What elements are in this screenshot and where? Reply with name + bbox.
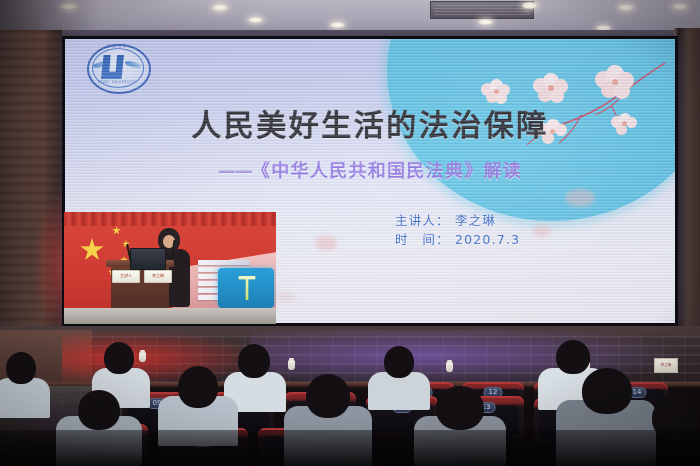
flag-star-1 (112, 226, 121, 235)
video-content: 主讲人 李之琳 (64, 212, 276, 324)
attendee-head (178, 366, 218, 408)
name-tent-card: 李之琳 (654, 358, 678, 373)
attendee-head (306, 374, 350, 418)
tea-cup (139, 352, 146, 362)
attendee-head (384, 346, 414, 378)
attendee-head (104, 342, 134, 374)
attendee-shoulders (0, 378, 50, 418)
left-wall-red-glow (34, 190, 64, 340)
tea-cup (446, 362, 453, 372)
stage-curtain (64, 212, 276, 226)
attendee-head (582, 368, 632, 414)
tea-cup (288, 360, 295, 370)
tent-card-text: 李之琳 (655, 359, 677, 371)
attendee-head (78, 390, 120, 430)
nameplate-1-text: 主讲人 (113, 271, 139, 281)
attendee-head (556, 340, 590, 374)
attendee-head (6, 352, 36, 384)
video-floor (64, 308, 276, 324)
nameplate-2-text: 李之琳 (145, 271, 171, 281)
attendee-head (436, 386, 484, 430)
foreground-shadow (0, 430, 700, 466)
law-emblem-badge (218, 268, 274, 308)
speaker-video-feed: 主讲人 李之琳 (64, 212, 276, 324)
flag-star-large (80, 238, 104, 262)
podium-nameplate-1: 主讲人 (112, 270, 140, 283)
podium-nameplate-2: 李之琳 (144, 270, 172, 283)
attendee-head (238, 344, 270, 378)
laptop (130, 248, 166, 270)
lecture-hall-photo: 河 北 大 学 HEBEI UNIVERSITY 人民美好生活的法治保障 ——《… (0, 0, 700, 466)
badge-glyph (236, 276, 258, 300)
